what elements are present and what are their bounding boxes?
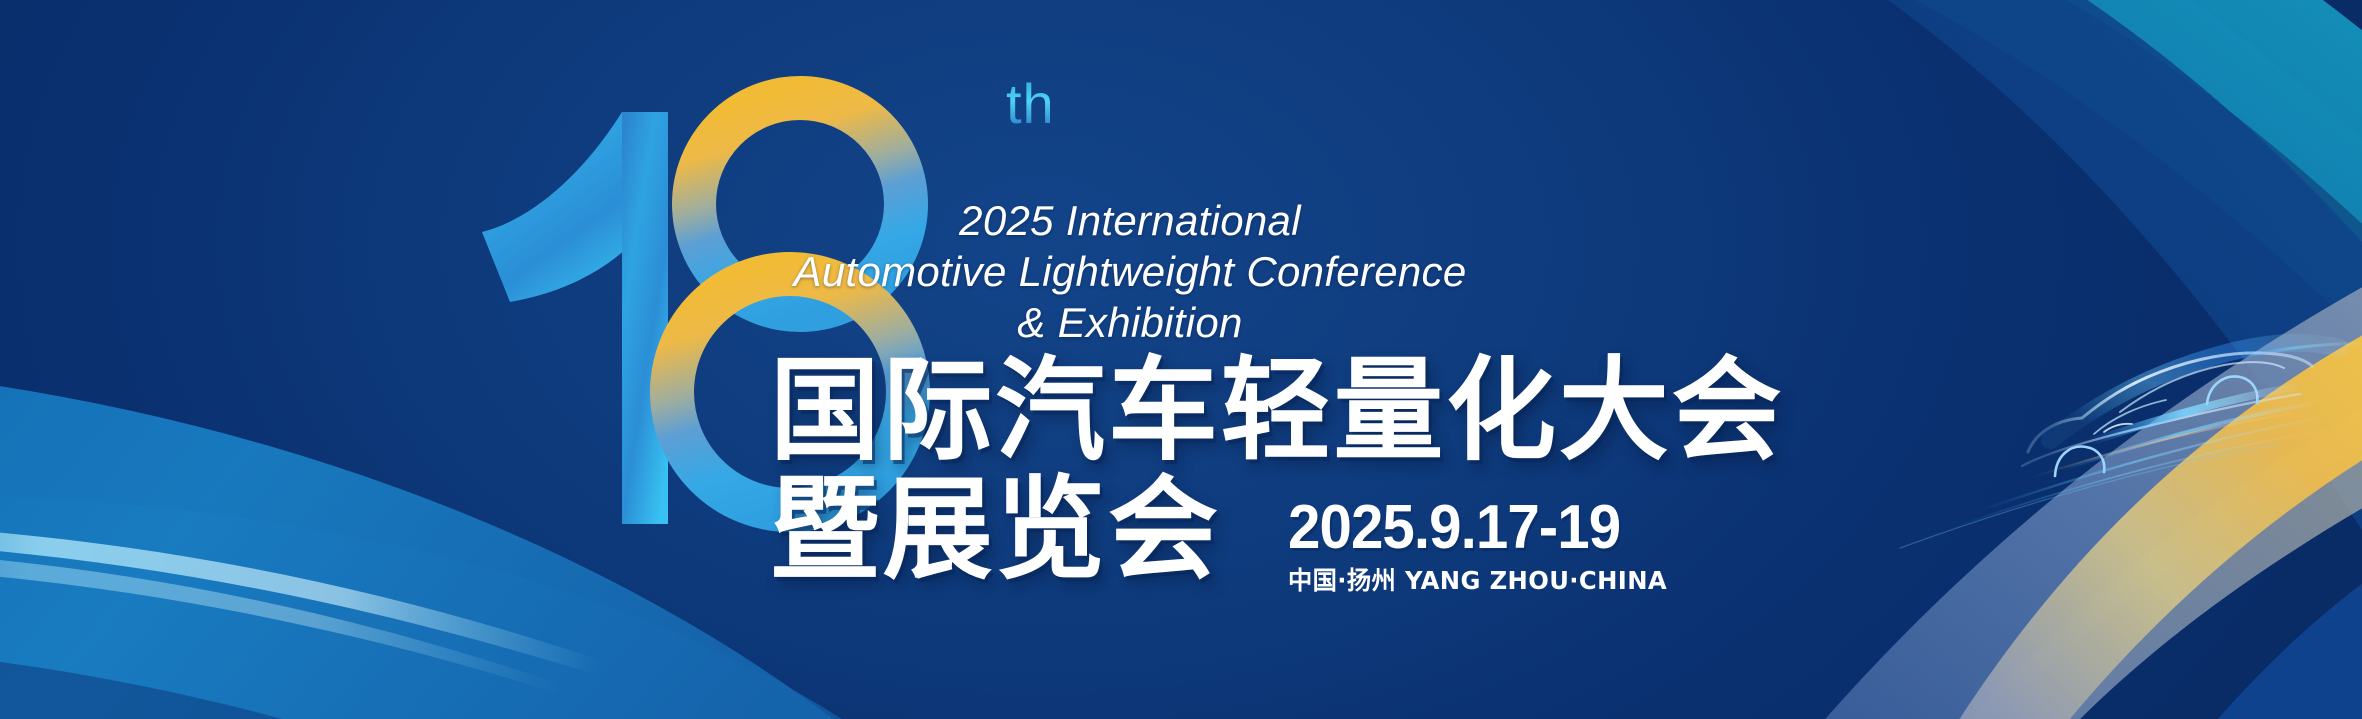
digit-one (482, 112, 668, 524)
date-location-block: 2025.9.17-19 中国·扬州 YANG ZHOU·CHINA (1288, 497, 1679, 593)
english-line-2: Automotive Lightweight Conference (780, 246, 1480, 297)
conference-banner: th 2025 International Automotive Lightwe… (0, 0, 2362, 719)
english-line-1: 2025 International (780, 195, 1480, 246)
english-title: 2025 International Automotive Lightweigh… (780, 195, 1480, 349)
event-location: 中国·扬州 YANG ZHOU·CHINA (1288, 568, 1667, 593)
chinese-title-line-1: 国际汽车轻量化大会 (770, 352, 1784, 471)
event-date: 2025.9.17-19 (1288, 497, 1655, 559)
english-line-3: & Exhibition (780, 297, 1480, 348)
ordinal-suffix: th (1006, 76, 1055, 132)
